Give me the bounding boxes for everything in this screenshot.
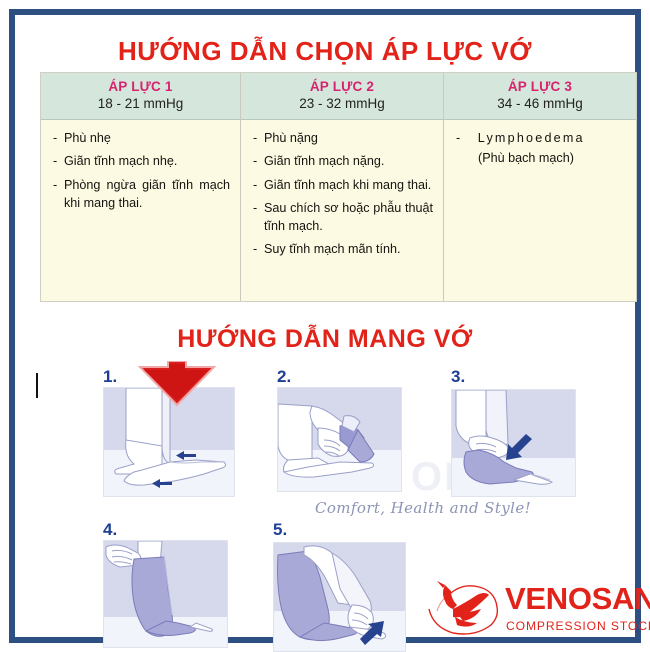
bullet-dash: - — [253, 153, 264, 171]
step-number-5: 5. — [273, 520, 287, 540]
step-5-illustration — [273, 542, 406, 652]
list-item: - Giãn tĩnh mạch nhẹ. — [53, 153, 230, 171]
list-item: - Giãn tĩnh mạch khi mang thai. — [253, 177, 433, 195]
step-2: 2. — [277, 367, 422, 497]
step-number-2: 2. — [277, 367, 291, 387]
venosan-name: VENOSAN — [505, 581, 650, 616]
venosan-logo: VENOSAN® COMPRESSION STOCKINGS — [427, 575, 642, 647]
step-4-illustration — [103, 540, 228, 648]
list-item: - Giãn tĩnh mạch nặng. — [253, 153, 433, 171]
bullet-dash: - — [53, 130, 64, 148]
sock-pulled-up-calf-illustration — [104, 541, 228, 648]
page-title-pressure-guide: HƯỚNG DẪN CHỌN ÁP LỰC VỚ — [15, 36, 635, 67]
list-item-text: Sau chích sơ hoặc phẫu thuật tĩnh mạch. — [264, 200, 433, 236]
step-5: 5. — [273, 520, 423, 652]
step-3-illustration — [451, 389, 576, 497]
step-number-3: 3. — [451, 367, 465, 387]
list-item: - Phù nặng — [253, 130, 433, 148]
pressure-level-label-2: ÁP LỰC 2 — [310, 79, 374, 95]
pressure-body-3: - Lymphoedema (Phù bạch mạch) — [444, 120, 636, 301]
bullet-dash: - — [53, 177, 64, 213]
pressure-level-label-1: ÁP LỰC 1 — [108, 79, 172, 95]
pressure-body-1: - Phù nhẹ - Giãn tĩnh mạch nhẹ. - Phòng … — [41, 120, 240, 301]
bullet-dash: - — [253, 130, 264, 148]
list-item-text: Phù nặng — [264, 130, 433, 148]
pulling-sock-over-foot-illustration — [452, 390, 576, 497]
list-item: - Phòng ngừa giãn tĩnh mạch khi mang tha… — [53, 177, 230, 213]
smoothing-sock-toe-illustration — [274, 543, 406, 652]
step-2-illustration — [277, 387, 402, 492]
list-item: - Suy tĩnh mạch mãn tính. — [253, 241, 433, 259]
pressure-level-label-3: ÁP LỰC 3 — [508, 79, 572, 95]
bullet-dash: - — [253, 200, 264, 236]
venosan-wordmark: VENOSAN® — [505, 583, 650, 614]
step-3: 3. — [451, 367, 601, 499]
list-item-text: Giãn tĩnh mạch khi mang thai. — [264, 177, 433, 195]
list-item: - Sau chích sơ hoặc phẫu thuật tĩnh mạch… — [253, 200, 433, 236]
poster-frame: HƯỚNG DẪN CHỌN ÁP LỰC VỚ ÁP LỰC 1 18 - 2… — [9, 9, 641, 643]
venosan-subtitle: COMPRESSION STOCKINGS — [506, 619, 650, 633]
pressure-column-2: ÁP LỰC 2 23 - 32 mmHg - Phù nặng - Giãn … — [241, 73, 444, 301]
page-edge-tick-mark — [36, 373, 38, 398]
brand-tagline: Comfort, Health and Style! — [315, 499, 531, 517]
list-item-text: Giãn tĩnh mạch nhẹ. — [64, 153, 230, 171]
list-item: - Phù nhẹ — [53, 130, 230, 148]
bullet-dash: - — [253, 241, 264, 259]
pressure-header-2: ÁP LỰC 2 23 - 32 mmHg — [241, 73, 443, 120]
bullet-dash: - — [456, 131, 460, 145]
hands-bunching-sock-illustration — [278, 388, 402, 492]
list-item-text: Phòng ngừa giãn tĩnh mạch khi mang thai. — [64, 177, 230, 213]
red-down-arrow-icon — [136, 361, 218, 407]
step-number-1: 1. — [103, 367, 117, 387]
pressure-column-3: ÁP LỰC 3 34 - 46 mmHg - Lymphoedema (Phù… — [444, 73, 636, 301]
pressure-header-1: ÁP LỰC 1 18 - 21 mmHg — [41, 73, 240, 120]
crane-bird-logo-icon — [427, 579, 501, 637]
list-item-text: Phù nhẹ — [64, 130, 230, 148]
pressure-body-2: - Phù nặng - Giãn tĩnh mạch nặng. - Giãn… — [241, 120, 443, 301]
list-item-text: Giãn tĩnh mạch nặng. — [264, 153, 433, 171]
list-item-text-lymphoedema: Lymphoedema — [464, 131, 585, 145]
poster-root: HƯỚNG DẪN CHỌN ÁP LỰC VỚ ÁP LỰC 1 18 - 2… — [0, 0, 650, 652]
pressure-range-2: 23 - 32 mmHg — [299, 95, 385, 113]
step-number-4: 4. — [103, 520, 117, 540]
pressure-level-table: ÁP LỰC 1 18 - 21 mmHg - Phù nhẹ - Giãn t… — [40, 72, 637, 302]
page-title-wearing-guide: HƯỚNG DẪN MANG VỚ — [15, 325, 635, 354]
bullet-dash: - — [253, 177, 264, 195]
pressure-header-3: ÁP LỰC 3 34 - 46 mmHg — [444, 73, 636, 120]
list-item: - Lymphoedema (Phù bạch mạch) — [456, 130, 626, 168]
pressure-range-3: 34 - 46 mmHg — [497, 95, 583, 113]
pressure-range-1: 18 - 21 mmHg — [98, 95, 184, 113]
bullet-dash: - — [53, 153, 64, 171]
pressure-column-1: ÁP LỰC 1 18 - 21 mmHg - Phù nhẹ - Giãn t… — [41, 73, 241, 301]
step-4: 4. — [103, 520, 248, 648]
list-item-text-lymphoedema-vn: (Phù bạch mạch) — [456, 150, 626, 168]
list-item-text: Suy tĩnh mạch mãn tính. — [264, 241, 433, 259]
